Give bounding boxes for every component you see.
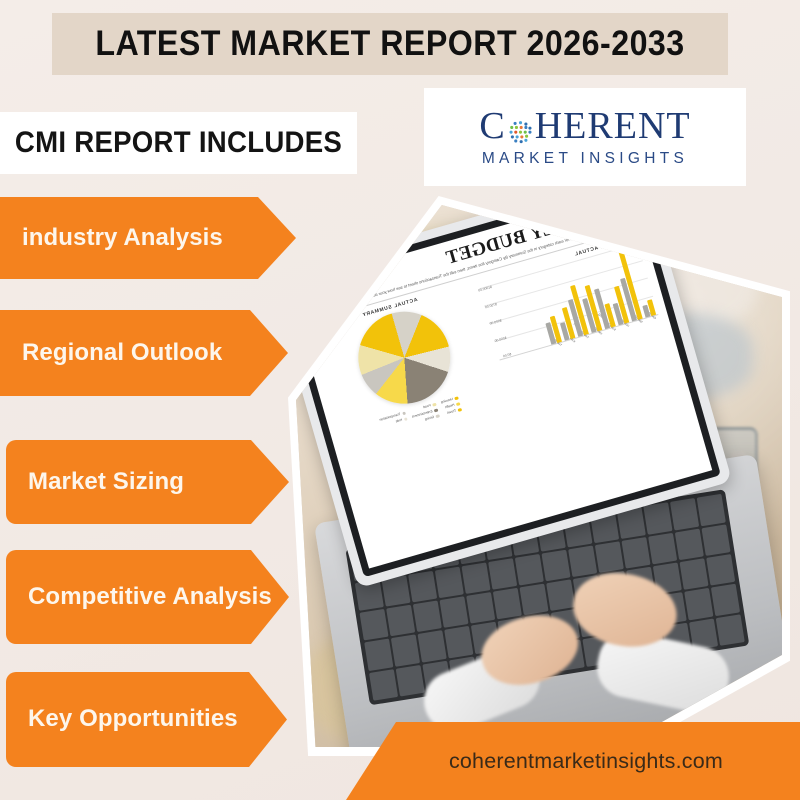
key [670,498,699,530]
report-item-label: Regional Outlook [22,339,222,367]
key [515,553,544,585]
section-heading: CMI REPORT INCLUDES [14,112,342,174]
report-item-label: Competitive Analysis [28,583,272,611]
key [643,502,672,534]
report-item-industry-analysis[interactable]: industry Analysis [0,197,296,279]
logo-tagline: MARKET INSIGHTS [482,150,688,168]
key [391,635,420,667]
laptop-photo: MONTHLY BUDGET HOW TO USE : Enter your b… [296,205,782,747]
website-url[interactable]: coherentmarketinsights.com [346,722,800,800]
key [541,549,570,581]
report-item-key-opportunities[interactable]: Key Opportunities [6,672,287,767]
legend-label: Giving [424,415,434,421]
y-tick: $1000.00 [478,285,493,293]
photo-background: MONTHLY BUDGET HOW TO USE : Enter your b… [296,205,782,747]
key [395,665,424,697]
key [435,566,464,598]
key [546,579,575,611]
market-report-poster: LATEST MARKET REPORT 2026-2033 CMI REPOR… [0,0,800,800]
report-item-competitive-analysis[interactable]: Competitive Analysis [6,550,289,644]
key [488,558,517,590]
y-tick: $250.00 [492,335,507,343]
key [461,562,490,594]
key [595,541,624,573]
report-item-regional-outlook[interactable]: Regional Outlook [0,310,288,396]
y-tick: $750.00 [482,302,497,310]
key [439,596,468,628]
brand-logo: C [424,88,746,186]
key [369,669,398,701]
report-item-label: Key Opportunities [28,705,238,733]
legend-label: Travel [446,409,456,415]
logo-word-part2: HERENT [535,107,691,145]
key [716,614,745,646]
key [702,524,731,556]
logo-word-part1: C [479,107,505,145]
key [706,554,735,586]
key [697,494,726,526]
key [413,600,442,632]
key [568,545,597,577]
key [648,532,677,564]
key [680,558,709,590]
legend-label: Food [423,403,432,409]
key [684,588,713,620]
key [466,592,495,624]
key [675,528,704,560]
key [386,605,415,637]
key [621,537,650,569]
key [359,609,388,641]
key [519,583,548,615]
bar-group [641,299,656,317]
legend-label: Kids [395,418,402,424]
report-item-market-sizing[interactable]: Market Sizing [6,440,289,524]
globe-dots-icon [507,114,534,141]
pie-chart-panel: ACTUAL SUMMARY Housing Food Transportati… [309,282,502,445]
logo-wordmark: C [479,107,690,145]
key [493,588,522,620]
report-item-label: Market Sizing [28,468,184,496]
key [364,639,393,671]
report-item-label: industry Analysis [22,224,223,252]
key [444,626,473,658]
key [408,570,437,602]
key [417,630,446,662]
key [711,584,740,616]
page-title: LATEST MARKET REPORT 2026-2033 [79,13,701,75]
y-tick: $500.00 [487,319,502,327]
